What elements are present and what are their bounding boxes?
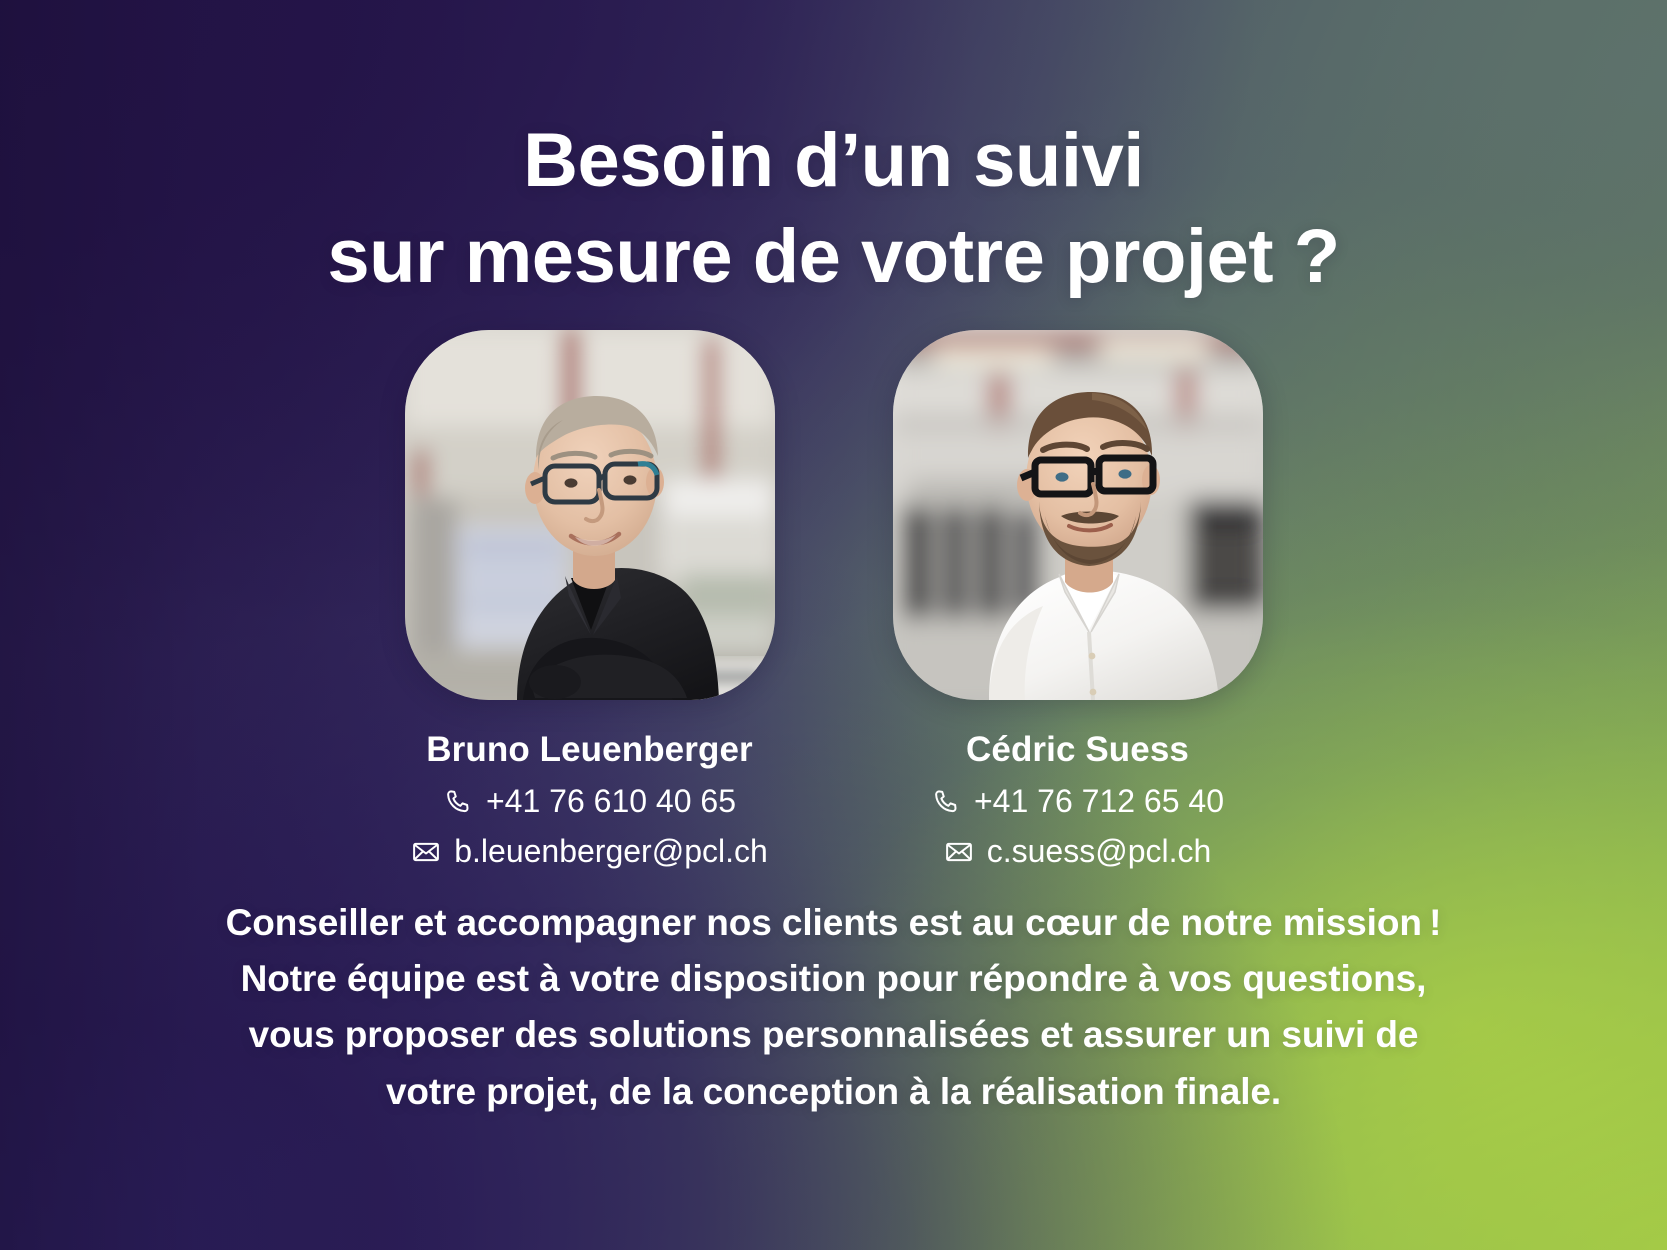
- phone-number: +41 76 712 65 40: [974, 783, 1224, 820]
- email-line[interactable]: c.suess@pcl.ch: [944, 833, 1212, 870]
- body-line-2: Notre équipe est à votre disposition pou…: [164, 951, 1504, 1007]
- page-title-line-1: Besoin d’un suivi: [0, 113, 1667, 209]
- body-line-4: votre projet, de la conception à la réal…: [164, 1064, 1504, 1120]
- phone-line[interactable]: +41 76 712 65 40: [931, 783, 1224, 820]
- person-name: Cédric Suess: [966, 730, 1189, 770]
- body-line-3: vous proposer des solutions personnalisé…: [164, 1007, 1504, 1063]
- email-address: c.suess@pcl.ch: [987, 833, 1212, 870]
- body-line-1: Conseiller et accompagner nos clients es…: [164, 895, 1504, 951]
- email-line[interactable]: b.leuenberger@pcl.ch: [411, 833, 768, 870]
- envelope-icon: [411, 837, 441, 867]
- body-paragraph: Conseiller et accompagner nos clients es…: [164, 895, 1504, 1120]
- contact-card-bruno-leuenberger: Bruno Leuenberger +41 76 610 40 65: [405, 330, 775, 870]
- avatar: [405, 330, 775, 700]
- phone-icon: [443, 787, 473, 817]
- contact-card-cedric-suess: Cédric Suess +41 76 712 65 40: [893, 330, 1263, 870]
- page-title-line-2: sur mesure de votre projet ?: [0, 209, 1667, 305]
- avatar: [893, 330, 1263, 700]
- slide-content: Besoin d’un suivi sur mesure de votre pr…: [0, 0, 1667, 1250]
- contact-cards: Bruno Leuenberger +41 76 610 40 65: [0, 330, 1667, 870]
- email-address: b.leuenberger@pcl.ch: [454, 833, 768, 870]
- promo-slide: Besoin d’un suivi sur mesure de votre pr…: [0, 0, 1667, 1250]
- envelope-icon: [944, 837, 974, 867]
- page-title: Besoin d’un suivi sur mesure de votre pr…: [0, 113, 1667, 305]
- phone-number: +41 76 610 40 65: [486, 783, 736, 820]
- person-name: Bruno Leuenberger: [426, 730, 752, 770]
- phone-icon: [931, 787, 961, 817]
- phone-line[interactable]: +41 76 610 40 65: [443, 783, 736, 820]
